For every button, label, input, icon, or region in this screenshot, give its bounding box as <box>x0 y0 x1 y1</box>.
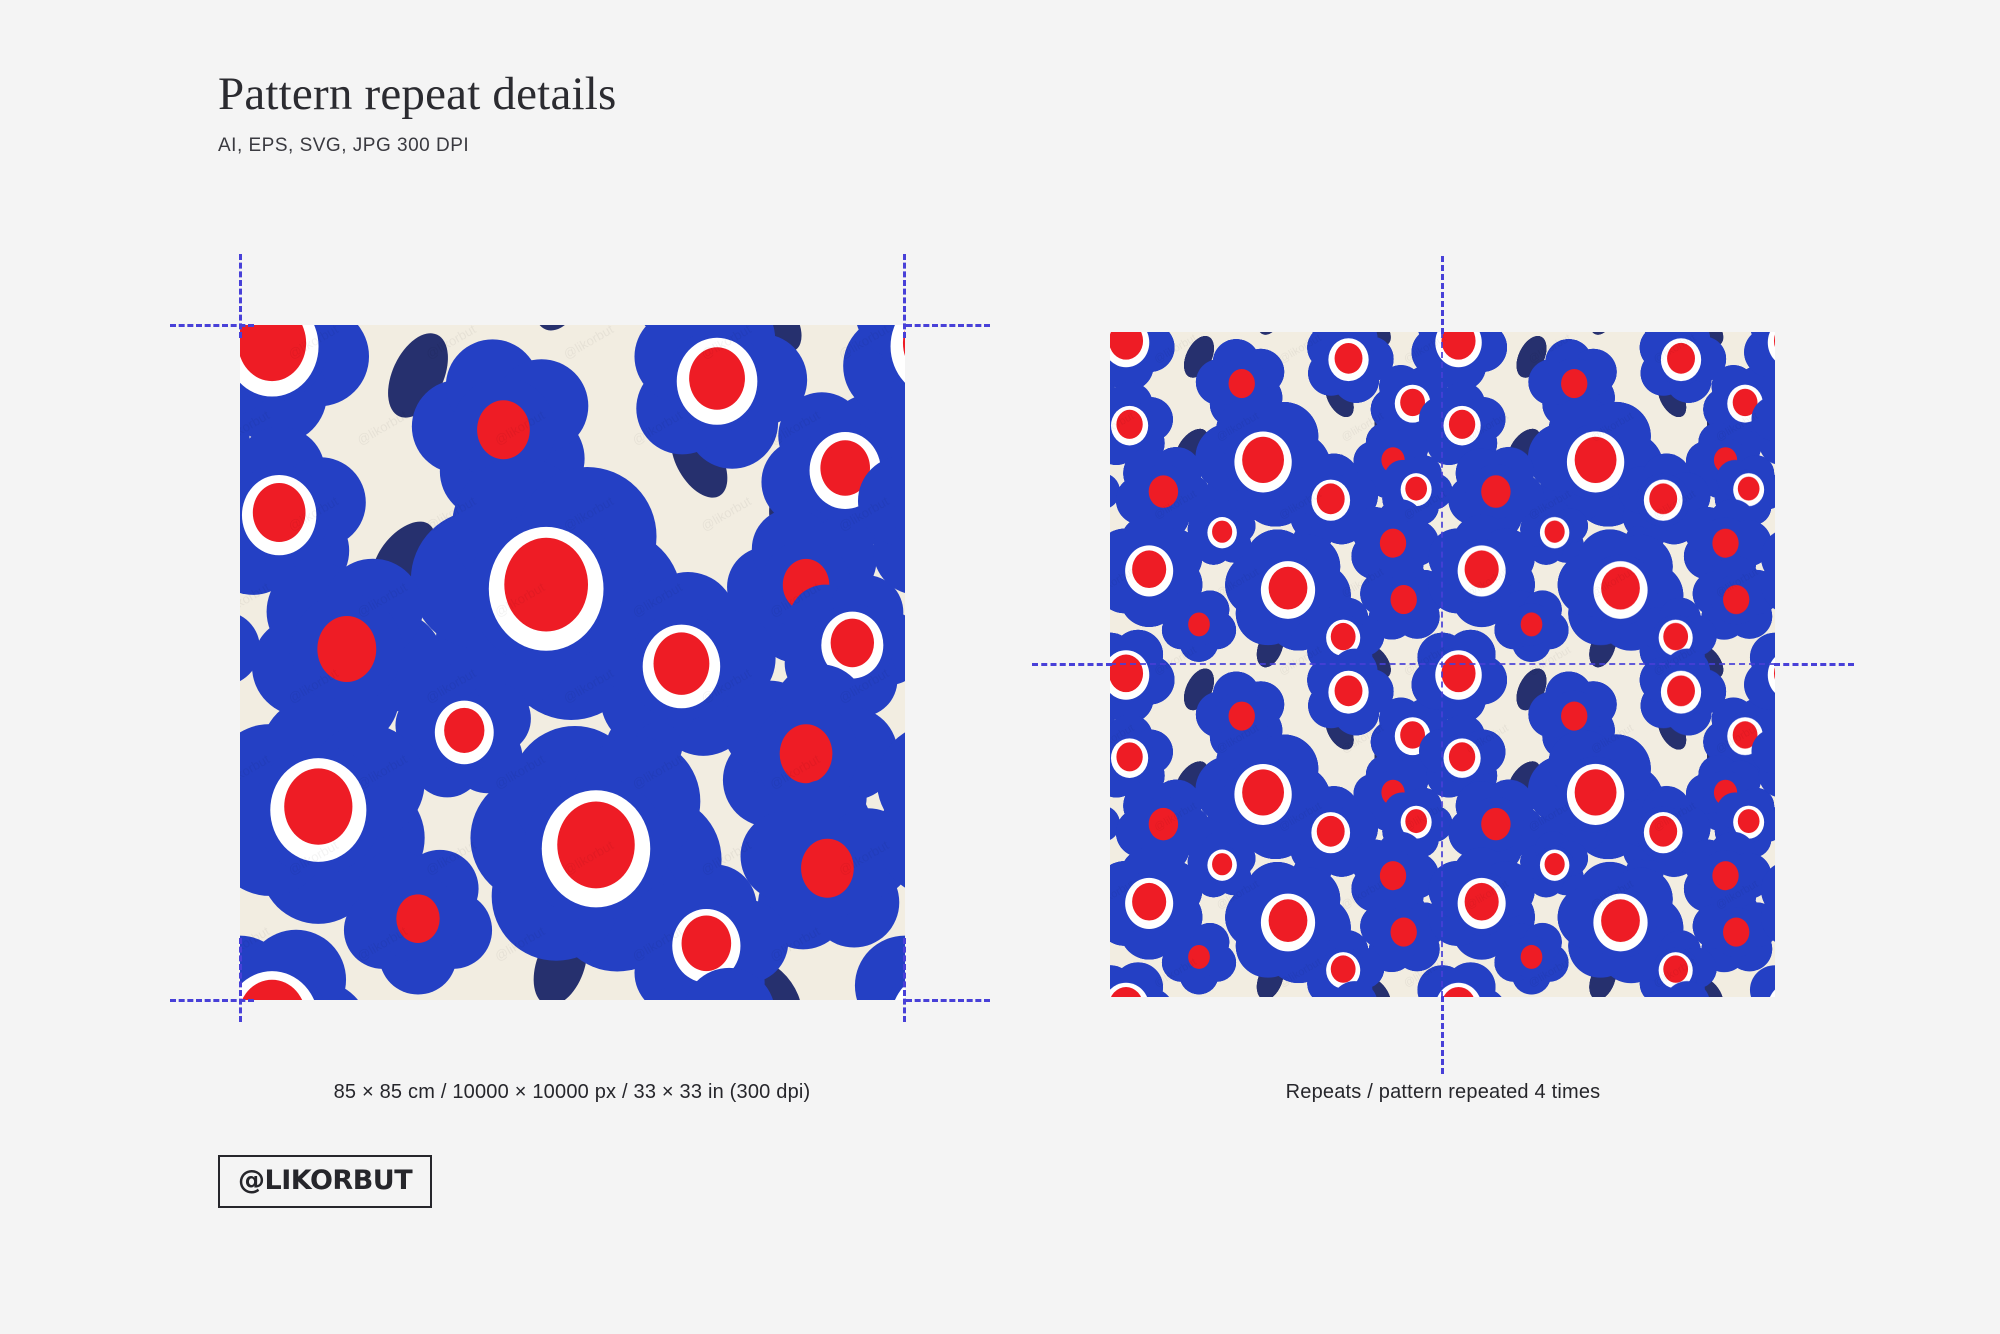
repeat-guide-bottom <box>1441 996 1444 1074</box>
repeat-preview-panel: @likorbut@likorbut@likorbut@likorbut@lik… <box>1110 332 1775 997</box>
page-title: Pattern repeat details <box>218 68 617 121</box>
logo-text: @LIKORBUT <box>238 1165 412 1196</box>
pattern-artwork-repeat: @likorbut@likorbut@likorbut@likorbut@lik… <box>1110 332 1775 997</box>
repeat-guide-left <box>1032 663 1112 666</box>
crop-mark-bottom-right-horizontal <box>906 999 990 1002</box>
pattern-swatch-repeat: @likorbut@likorbut@likorbut@likorbut@lik… <box>1110 332 1775 997</box>
caption-repeat-preview: Repeats / pattern repeated 4 times <box>1286 1081 1601 1104</box>
repeat-guide-top <box>1441 256 1444 334</box>
pattern-artwork-single: @likorbut@likorbut@likorbut@likorbut@lik… <box>240 325 905 1000</box>
header: Pattern repeat details AI, EPS, SVG, JPG… <box>218 68 617 157</box>
page-subtitle: AI, EPS, SVG, JPG 300 DPI <box>218 135 617 157</box>
pattern-swatch-single: @likorbut@likorbut@likorbut@likorbut@lik… <box>240 325 905 1000</box>
repeat-guide-right <box>1774 663 1854 666</box>
single-repeat-panel: @likorbut@likorbut@likorbut@likorbut@lik… <box>240 325 905 1000</box>
crop-mark-top-right-horizontal <box>906 324 990 327</box>
caption-single-repeat: 85 × 85 cm / 10000 × 10000 px / 33 × 33 … <box>334 1081 811 1104</box>
logo-badge[interactable]: @LIKORBUT <box>218 1155 432 1208</box>
